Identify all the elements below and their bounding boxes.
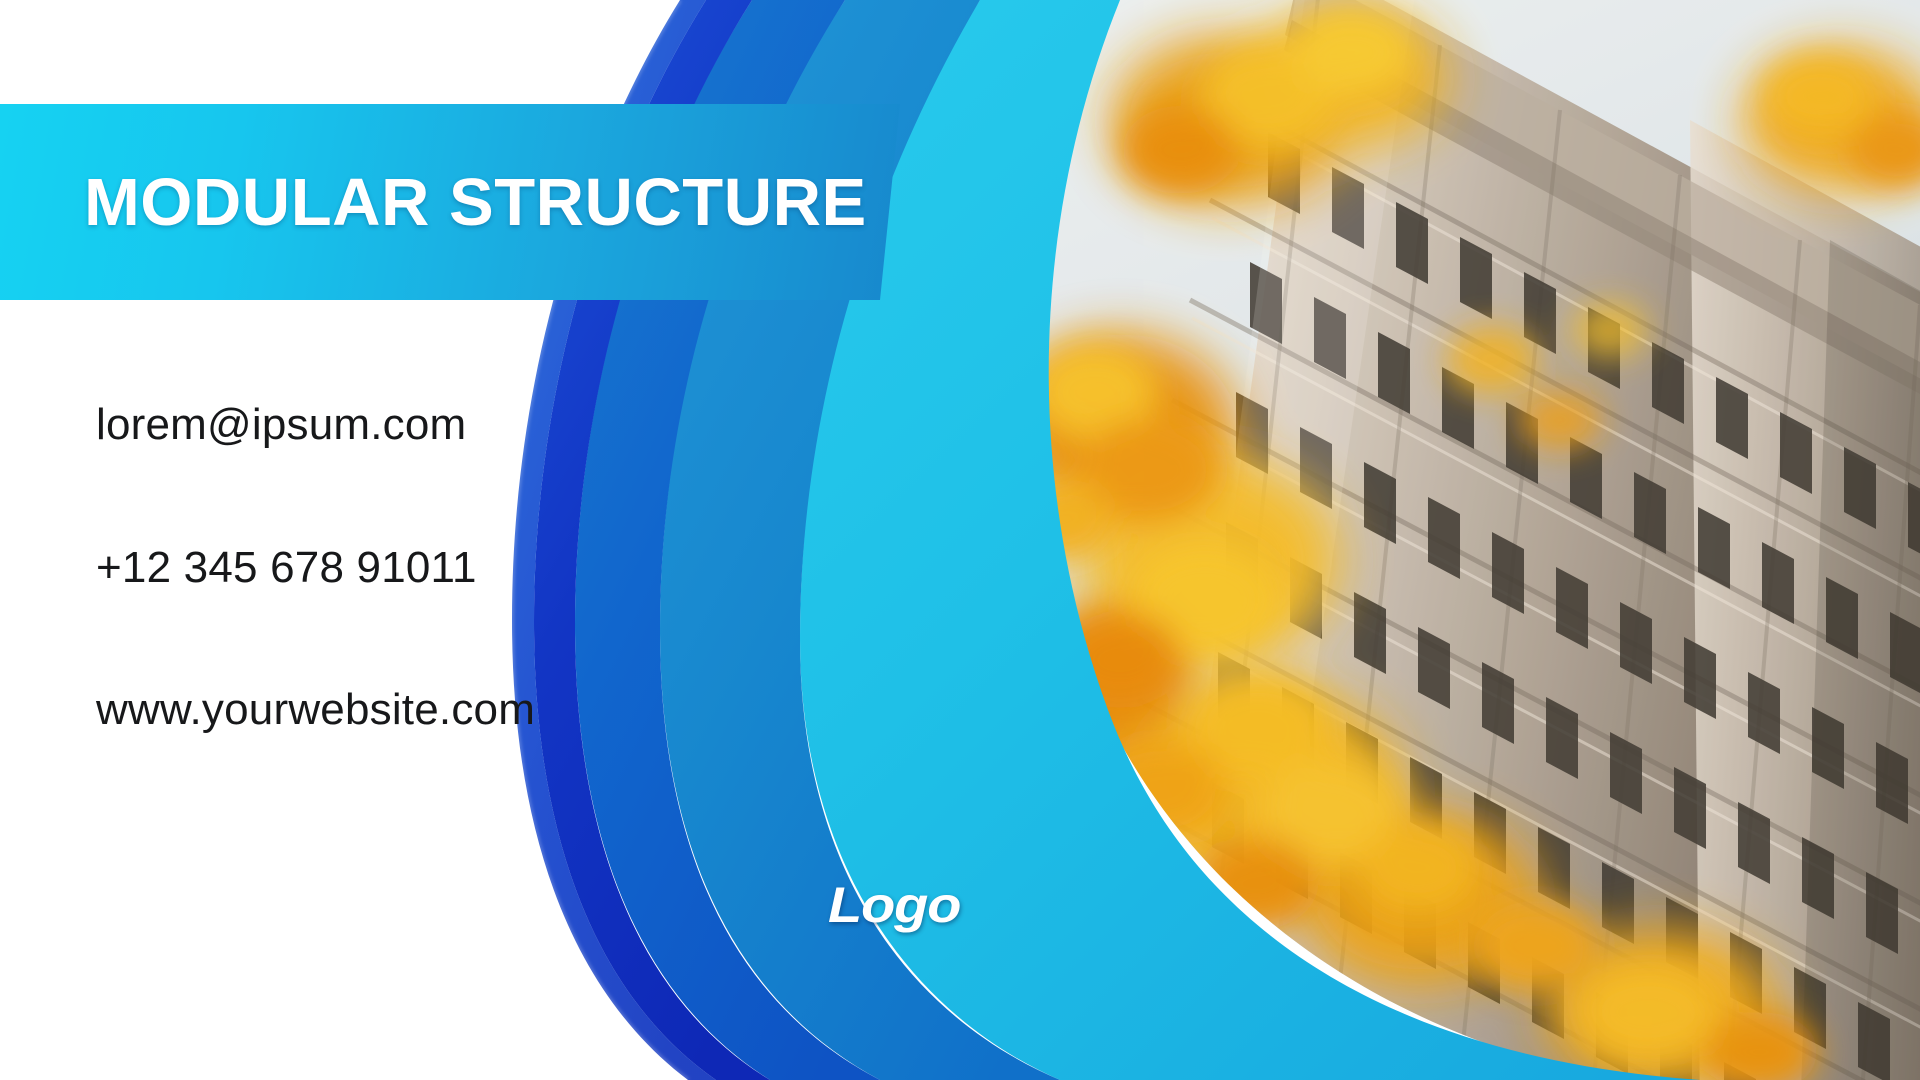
logo[interactable]: Logo — [828, 880, 1028, 942]
contact-email[interactable]: lorem@ipsum.com — [96, 400, 656, 451]
title-banner-inner: MODULAR STRUCTURE — [0, 169, 900, 236]
logo-text: Logo — [828, 880, 1052, 930]
slide-canvas: MODULAR STRUCTURE lorem@ipsum.com +12 34… — [0, 0, 1920, 1080]
page-title: MODULAR STRUCTURE — [84, 169, 900, 236]
contact-phone[interactable]: +12 345 678 91011 — [96, 543, 656, 594]
contact-website[interactable]: www.yourwebsite.com — [96, 685, 656, 736]
contact-details: lorem@ipsum.com +12 345 678 91011 www.yo… — [96, 400, 656, 736]
title-banner: MODULAR STRUCTURE — [0, 104, 900, 300]
